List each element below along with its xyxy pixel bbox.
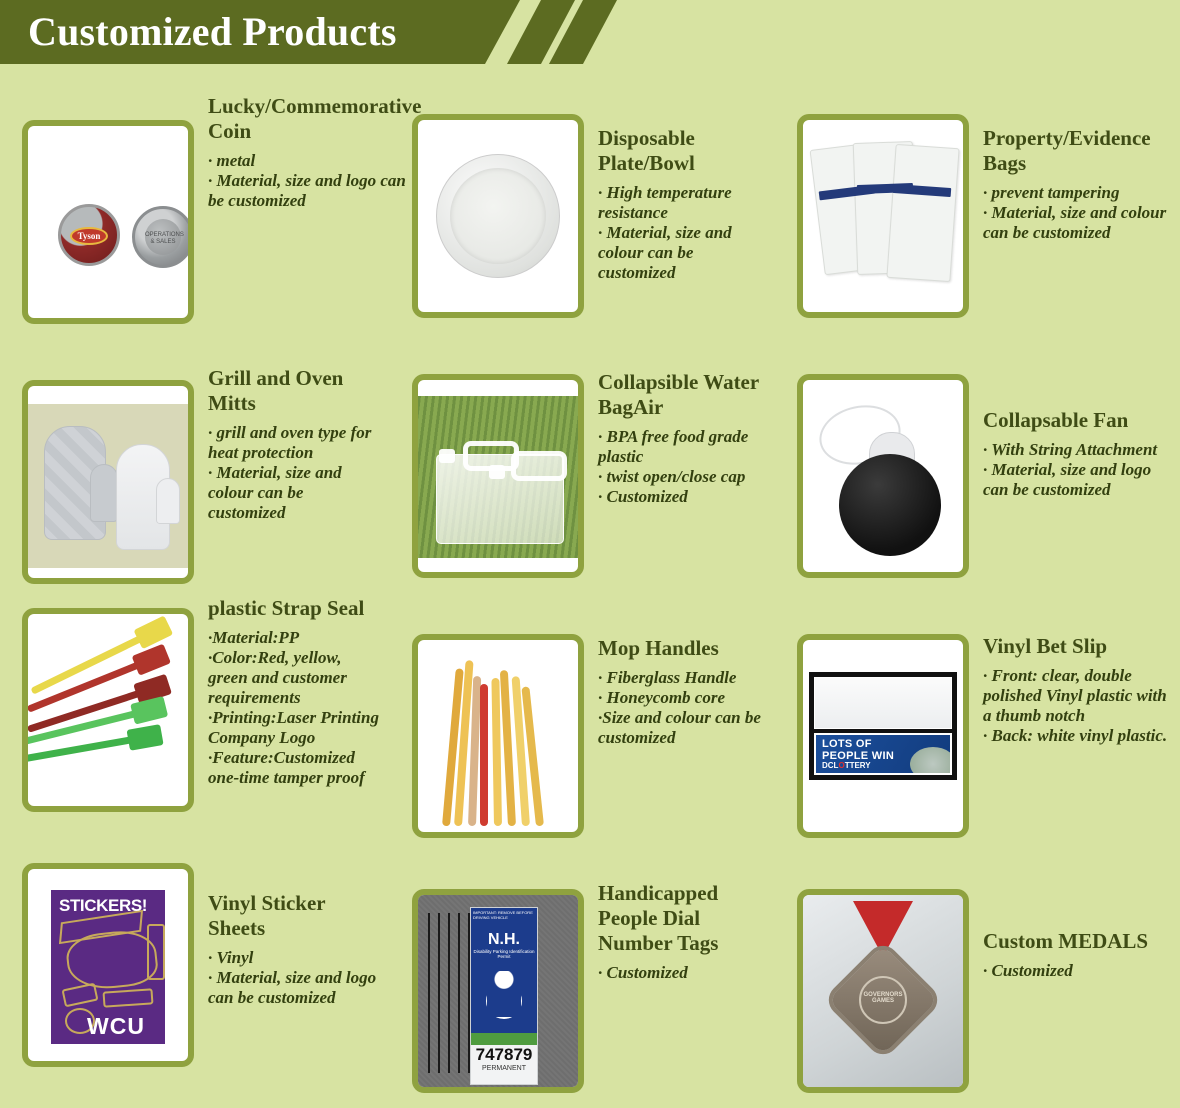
product-image-frame	[797, 114, 969, 318]
product-image-frame: STICKERS! WCU	[22, 863, 194, 1067]
product-info: Handicapped People Dial Number Tags · Cu…	[584, 839, 775, 983]
product-title: Custom MEDALS	[983, 929, 1174, 954]
product-title: Collapsible Water BagAir	[598, 370, 769, 420]
coin-silver-label: OPERATIONS & SALES	[145, 232, 181, 246]
oven-mitts-photo	[28, 386, 188, 578]
product-info: Mop Handles · Fiberglass Handle · Honeyc…	[584, 584, 775, 748]
product-card[interactable]: GOVERNORS GAMES Custom MEDALS · Customiz…	[775, 839, 1180, 1108]
feature-item: · Customized	[598, 487, 769, 507]
product-image-frame	[412, 374, 584, 578]
product-features: · Customized	[598, 963, 769, 983]
commemorative-coins-photo: Tyson OPERATIONS & SALES	[28, 126, 188, 318]
feature-item: · Customized	[983, 961, 1174, 981]
feature-item: · Material, size and colour can be custo…	[983, 203, 1174, 243]
product-image-frame	[412, 634, 584, 838]
feature-item: ·Size and colour can be customized	[598, 708, 769, 748]
sticker-logo-label: WCU	[87, 1013, 145, 1040]
product-title: Property/Evidence Bags	[983, 126, 1174, 176]
product-info: Property/Evidence Bags · prevent tamperi…	[969, 64, 1180, 243]
product-features: · Customized	[983, 961, 1174, 981]
product-title: Vinyl Sticker Sheets	[208, 891, 384, 941]
product-card[interactable]: Disposable Plate/Bowl · High temperature…	[390, 64, 775, 324]
feature-item: · Honeycomb core	[598, 688, 769, 708]
product-card[interactable]: Collapsable Fan · With String Attachment…	[775, 324, 1180, 584]
tag-state-label: N.H.	[471, 930, 537, 949]
product-info: Collapsable Fan · With String Attachment…	[969, 324, 1180, 500]
feature-item: · Front: clear, double polished Vinyl pl…	[983, 666, 1174, 726]
product-title: Handicapped People Dial Number Tags	[598, 881, 769, 956]
feature-item: · Back: white vinyl plastic.	[983, 726, 1174, 746]
page-header: Customized Products	[0, 0, 1180, 64]
product-title: Grill and Oven Mitts	[208, 366, 384, 416]
collapsable-fan-photo	[803, 380, 963, 572]
evidence-bags-photo	[803, 120, 963, 312]
product-features: ·Material:PP ·Color:Red, yellow, green a…	[208, 628, 384, 788]
product-info: Collapsible Water BagAir · BPA free food…	[584, 324, 775, 507]
product-features: · Fiberglass Handle · Honeycomb core ·Si…	[598, 668, 769, 748]
product-features: · With String Attachment · Material, siz…	[983, 440, 1174, 500]
product-title: Disposable Plate/Bowl	[598, 126, 769, 176]
disposable-plate-photo	[418, 120, 578, 312]
parking-permit-tag: IMPORTANT: REMOVE BEFORE DRIVING VEHICLE…	[470, 907, 538, 1085]
tag-subtitle: Disability Parking Identification Permit	[471, 949, 537, 961]
feature-item: · Material, size and logo can be customi…	[208, 968, 384, 1008]
coin-silver-icon: OPERATIONS & SALES	[132, 206, 188, 268]
medal-text: GOVERNORS GAMES	[861, 992, 905, 1004]
product-info: Vinyl Bet Slip · Front: clear, double po…	[969, 584, 1180, 746]
feature-item: · Material, size and logo can be customi…	[983, 460, 1174, 500]
product-image-frame: Tyson OPERATIONS & SALES	[22, 120, 194, 324]
plastic-strap-seal-photo	[28, 614, 188, 806]
plate-icon	[436, 154, 560, 278]
product-image-frame: IMPORTANT: REMOVE BEFORE DRIVING VEHICLE…	[412, 889, 584, 1093]
tag-number: 747879	[471, 1045, 537, 1065]
feature-item: · grill and oven type for heat protectio…	[208, 423, 384, 463]
tag-notice: IMPORTANT: REMOVE BEFORE DRIVING VEHICLE	[471, 908, 537, 930]
product-card[interactable]: plastic Strap Seal ·Material:PP ·Color:R…	[0, 584, 390, 839]
feature-item: · twist open/close cap	[598, 467, 769, 487]
feature-item: · Fiberglass Handle	[598, 668, 769, 688]
product-features: · High temperature resistance · Material…	[598, 183, 769, 283]
product-image-frame	[22, 380, 194, 584]
slip-line-1: LOTS OF	[822, 739, 872, 750]
bet-slip-back: LOTS OF PEOPLE WIN DCLOTTERY	[814, 733, 952, 775]
product-card[interactable]: Tyson OPERATIONS & SALES Lucky/Commemora…	[0, 64, 390, 324]
product-title: Mop Handles	[598, 636, 769, 661]
feature-item: ·Material:PP	[208, 628, 384, 648]
coin-brand-label: Tyson	[72, 229, 106, 243]
mop-handles-photo	[418, 640, 578, 832]
product-card[interactable]: Collapsible Water BagAir · BPA free food…	[390, 324, 775, 584]
product-card[interactable]: IMPORTANT: REMOVE BEFORE DRIVING VEHICLE…	[390, 839, 775, 1108]
feature-item: · Material, size and colour can be custo…	[208, 463, 384, 523]
product-card[interactable]: Mop Handles · Fiberglass Handle · Honeyc…	[390, 584, 775, 839]
product-image-frame: GOVERNORS GAMES	[797, 889, 969, 1093]
product-features: · BPA free food grade plastic · twist op…	[598, 427, 769, 507]
feature-item: · With String Attachment	[983, 440, 1174, 460]
lottery-brand-label: DCLOTTERY	[822, 761, 871, 770]
wire-frame-icon	[426, 913, 470, 1073]
custom-medal-photo: GOVERNORS GAMES	[803, 895, 963, 1087]
feature-item: · BPA free food grade plastic	[598, 427, 769, 467]
product-card[interactable]: STICKERS! WCU Vinyl Sticker Sheets · Vin…	[0, 839, 390, 1108]
product-image-frame	[22, 608, 194, 812]
handicapped-parking-tag-photo: IMPORTANT: REMOVE BEFORE DRIVING VEHICLE…	[418, 895, 578, 1087]
vinyl-bet-slip-photo: LOTS OF PEOPLE WIN DCLOTTERY	[803, 640, 963, 832]
product-features: · grill and oven type for heat protectio…	[208, 423, 384, 523]
product-title: Collapsable Fan	[983, 408, 1174, 433]
sticker-heading: STICKERS!	[59, 896, 147, 916]
product-image-frame: LOTS OF PEOPLE WIN DCLOTTERY	[797, 634, 969, 838]
product-info: Disposable Plate/Bowl · High temperature…	[584, 64, 775, 283]
feature-item: · High temperature resistance	[598, 183, 769, 223]
feature-item: ·Color:Red, yellow, green and customer r…	[208, 648, 384, 708]
page-title: Customized Products	[28, 8, 397, 55]
fan-body-icon	[839, 454, 941, 556]
vinyl-sticker-sheet-photo: STICKERS! WCU	[28, 869, 188, 1061]
product-info: plastic Strap Seal ·Material:PP ·Color:R…	[194, 584, 390, 788]
product-card[interactable]: Grill and Oven Mitts · grill and oven ty…	[0, 324, 390, 584]
product-grid: Tyson OPERATIONS & SALES Lucky/Commemora…	[0, 64, 1180, 1108]
product-image-frame	[412, 114, 584, 318]
product-features: · prevent tampering · Material, size and…	[983, 183, 1174, 243]
bet-slip-icon: LOTS OF PEOPLE WIN DCLOTTERY	[809, 672, 957, 780]
feature-item: · Material, size and colour can be custo…	[598, 223, 769, 283]
feature-item: ·Feature:Customized one-time tamper proo…	[208, 748, 384, 788]
product-info: Custom MEDALS · Customized	[969, 839, 1180, 981]
water-bag-icon	[436, 454, 564, 544]
tag-status: PERMANENT	[471, 1065, 537, 1072]
product-card[interactable]: LOTS OF PEOPLE WIN DCLOTTERY Vinyl Bet S…	[775, 584, 1180, 839]
sticker-sheet-icon: STICKERS! WCU	[42, 881, 174, 1053]
feature-item: · Customized	[598, 963, 769, 983]
bet-slip-front	[814, 677, 952, 729]
product-features: · Vinyl · Material, size and logo can be…	[208, 948, 384, 1008]
feature-item: · Vinyl	[208, 948, 384, 968]
collapsible-water-bag-photo	[418, 380, 578, 572]
feature-item: · prevent tampering	[983, 183, 1174, 203]
product-image-frame	[797, 374, 969, 578]
product-info: Vinyl Sticker Sheets · Vinyl · Material,…	[194, 839, 390, 1008]
wheelchair-icon	[471, 961, 537, 1033]
coin-red-icon: Tyson	[58, 204, 120, 266]
product-title: Vinyl Bet Slip	[983, 634, 1174, 659]
product-features: · Front: clear, double polished Vinyl pl…	[983, 666, 1174, 746]
product-card[interactable]: Property/Evidence Bags · prevent tamperi…	[775, 64, 1180, 324]
feature-item: ·Printing:Laser Printing Company Logo	[208, 708, 384, 748]
product-info: Grill and Oven Mitts · grill and oven ty…	[194, 324, 390, 523]
product-title: plastic Strap Seal	[208, 596, 384, 621]
